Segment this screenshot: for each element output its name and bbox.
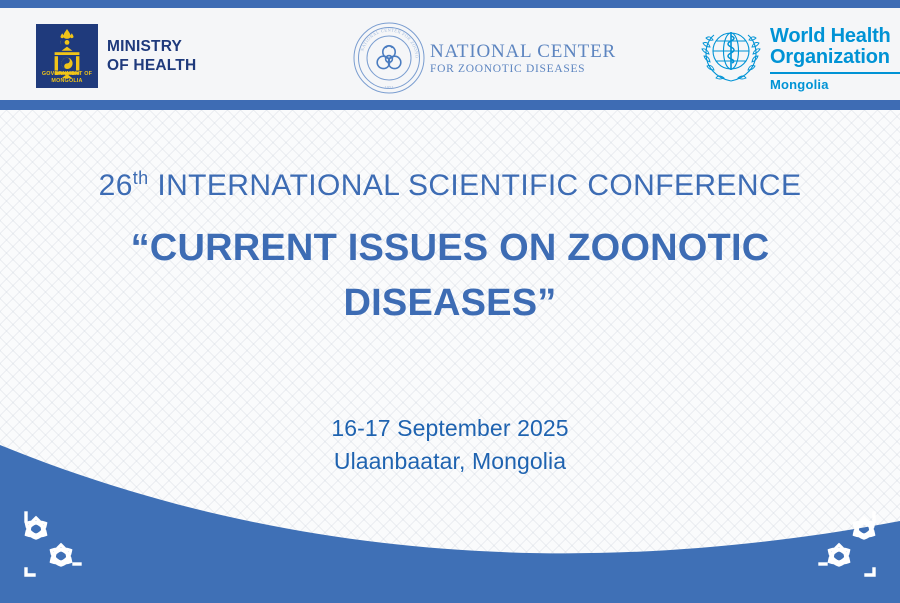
event-date: 16-17 September 2025 xyxy=(0,412,900,445)
biohazard-seal-icon: NATIONAL CENTER FOR ZOONOTIC DISEASES 19… xyxy=(352,21,426,95)
logo-world-health-organization: World Health Organization Mongolia xyxy=(700,26,900,92)
conference-label: INTERNATIONAL SCIENTIFIC CONFERENCE xyxy=(149,169,802,202)
soyombo-caption-line1: GOVERNMENT OF xyxy=(36,71,98,78)
who-globe-asclepius-icon xyxy=(700,26,762,84)
conference-title-slide: GOVERNMENT OF MONGOLIA MINISTRY OF HEALT… xyxy=(0,0,900,603)
conference-number-suffix: th xyxy=(133,168,149,188)
conference-number-line: 26th INTERNATIONAL SCIENTIFIC CONFERENCE xyxy=(0,165,900,207)
logo-national-center-zoonotic-diseases: NATIONAL CENTER FOR ZOONOTIC DISEASES 19… xyxy=(352,21,616,95)
who-name: World Health Organization Mongolia xyxy=(770,26,900,92)
logo-row: GOVERNMENT OF MONGOLIA MINISTRY OF HEALT… xyxy=(0,8,900,100)
ministry-name-line1: MINISTRY xyxy=(107,37,196,56)
page-title: “CURRENT ISSUES ON ZOONOTIC DISEASES” xyxy=(0,221,900,331)
ncz-name: NATIONAL CENTER FOR ZOONOTIC DISEASES xyxy=(430,41,616,76)
soyombo-caption-line2: MONGOLIA xyxy=(36,78,98,85)
ministry-of-health-name: MINISTRY OF HEALTH xyxy=(107,37,196,75)
ncz-name-line1: NATIONAL CENTER xyxy=(430,41,616,62)
who-country-label: Mongolia xyxy=(770,77,900,92)
header-divider-bar xyxy=(0,100,900,110)
who-underline xyxy=(770,72,900,74)
top-accent-bar xyxy=(0,0,900,8)
conference-number: 26 xyxy=(99,169,133,202)
ministry-name-line2: OF HEALTH xyxy=(107,56,196,75)
mongolian-endless-knot-ornament-left xyxy=(14,509,94,581)
svg-text:1951: 1951 xyxy=(384,85,394,90)
soyombo-emblem: GOVERNMENT OF MONGOLIA xyxy=(36,24,98,88)
title-block: 26th INTERNATIONAL SCIENTIFIC CONFERENCE… xyxy=(0,165,900,331)
ncz-name-line2: FOR ZOONOTIC DISEASES xyxy=(430,62,616,76)
footer-wave xyxy=(0,443,900,603)
who-name-line1: World Health xyxy=(770,26,900,47)
logo-ministry-of-health: GOVERNMENT OF MONGOLIA MINISTRY OF HEALT… xyxy=(36,24,196,88)
footer-wave-fill xyxy=(0,445,900,603)
svg-text:NATIONAL CENTER FOR ZOONOTIC D: NATIONAL CENTER FOR ZOONOTIC DISEASES xyxy=(352,21,420,59)
mongolian-endless-knot-ornament-right xyxy=(806,509,886,581)
soyombo-emblem-caption: GOVERNMENT OF MONGOLIA xyxy=(36,71,98,85)
who-name-line2: Organization xyxy=(770,47,900,68)
